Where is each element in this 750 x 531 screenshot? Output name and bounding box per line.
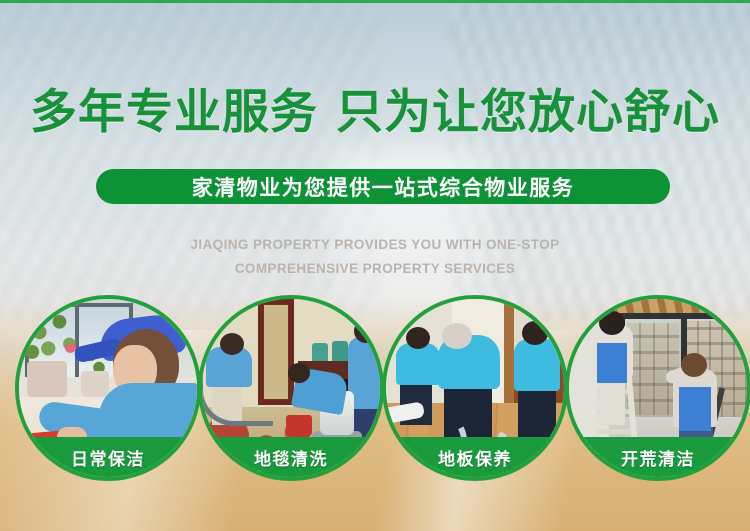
- english-subtitle-line-1: JIAQING PROPERTY PROVIDES YOU WITH ONE-S…: [0, 233, 750, 257]
- service-circle-rough-cleaning[interactable]: 开荒清洁: [565, 295, 750, 481]
- service-label-band: 开荒清洁: [565, 437, 750, 477]
- service-label-text: 地毯清洗: [254, 445, 328, 470]
- service-label-band: 日常保洁: [15, 437, 201, 477]
- service-label-text: 地板保养: [438, 445, 512, 470]
- subtitle-pill: 家清物业为您提供一站式综合物业服务: [96, 169, 670, 204]
- service-circle-daily-cleaning[interactable]: 日常保洁: [15, 295, 201, 481]
- headline-part-2: 只为让您放心舒心: [336, 85, 720, 138]
- headline: 多年专业服务只为让您放心舒心: [0, 84, 750, 140]
- service-circle-row: 日常保洁 地毯清洗: [0, 295, 750, 485]
- top-rule: [0, 0, 750, 3]
- service-label-text: 日常保洁: [71, 445, 145, 470]
- service-circle-carpet-cleaning[interactable]: 地毯清洗: [198, 295, 384, 481]
- service-label-band: 地板保养: [382, 437, 568, 477]
- headline-part-1: 多年专业服务: [30, 85, 318, 138]
- subtitle-pill-text: 家清物业为您提供一站式综合物业服务: [192, 172, 575, 202]
- service-label-text: 开荒清洁: [621, 445, 695, 470]
- promo-banner: 多年专业服务只为让您放心舒心 家清物业为您提供一站式综合物业服务 JIAQING…: [0, 0, 750, 531]
- service-circle-floor-maintenance[interactable]: 地板保养: [382, 295, 568, 481]
- service-label-band: 地毯清洗: [198, 437, 384, 477]
- english-subtitle-line-2: COMPREHENSIVE PROPERTY SERVICES: [0, 257, 750, 281]
- english-subtitle: JIAQING PROPERTY PROVIDES YOU WITH ONE-S…: [0, 233, 750, 281]
